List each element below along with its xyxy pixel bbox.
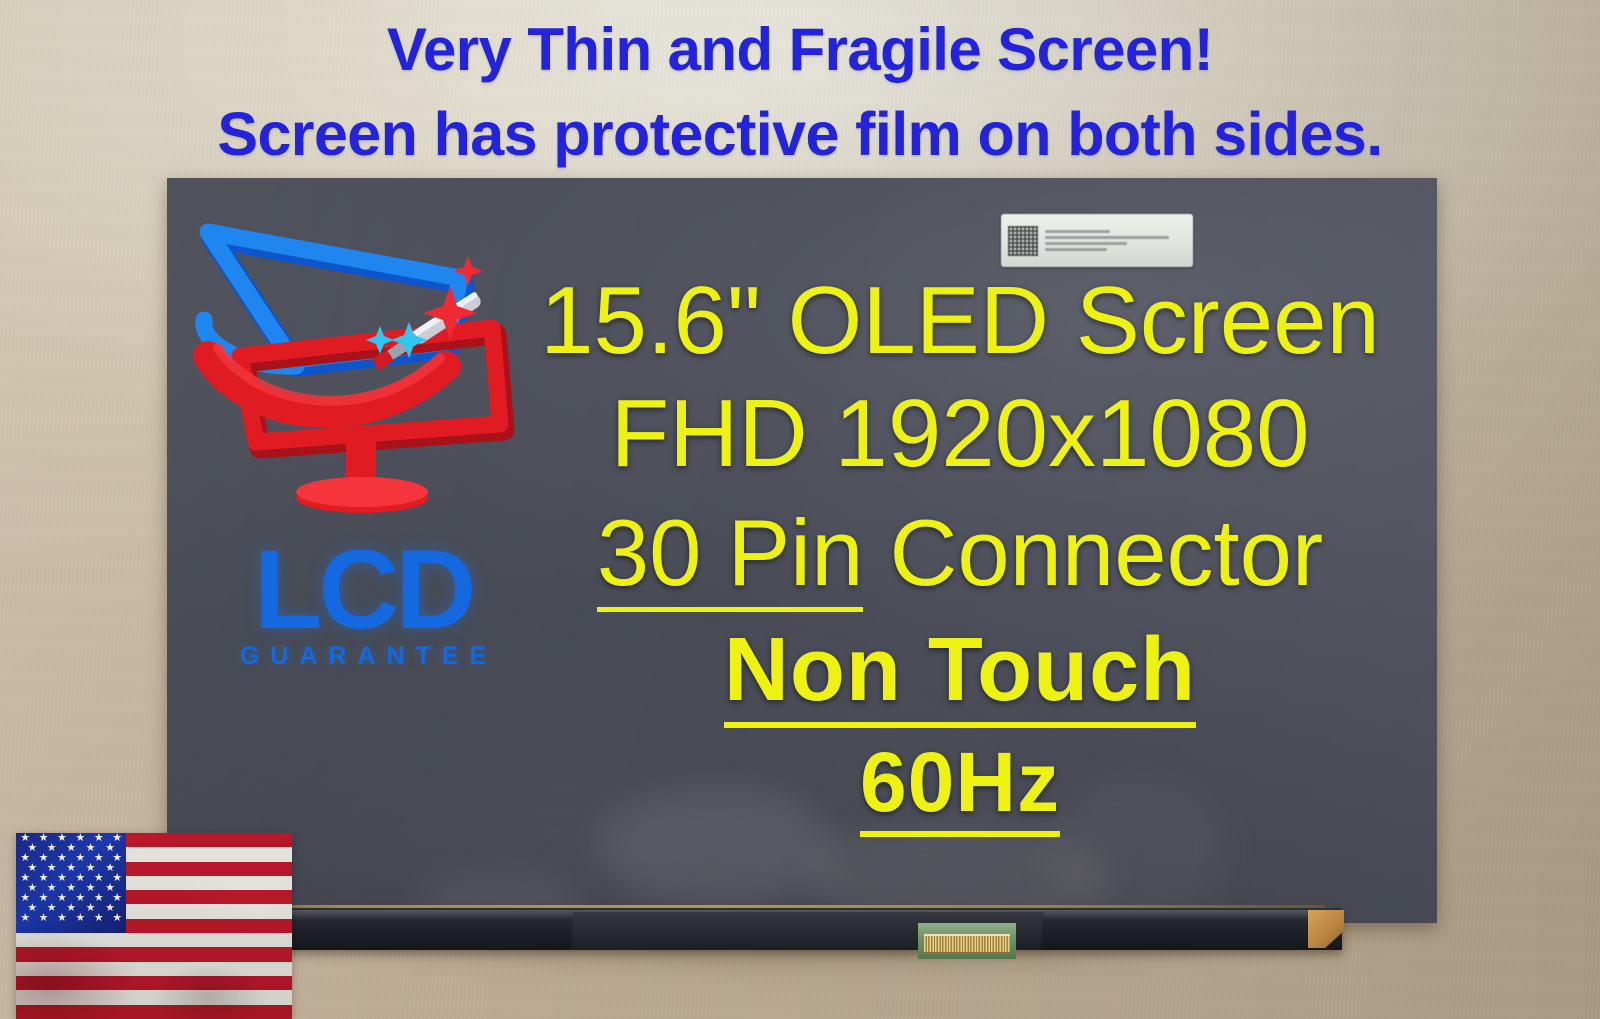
datamatrix-code-icon [1008, 226, 1038, 256]
spec-refresh-rate: 60Hz [520, 728, 1400, 836]
label-text-lines [1045, 230, 1186, 251]
label-line-2 [1045, 236, 1169, 239]
product-barcode-label [1001, 214, 1193, 267]
specifications-block: 15.6" OLED Screen FHD 1920x1080 30 Pin C… [520, 268, 1400, 836]
logo-wordmark: LCD [178, 538, 548, 642]
product-listing-image: Very Thin and Fragile Screen! Screen has… [0, 0, 1600, 1019]
spec-touch: Non Touch [520, 612, 1400, 728]
monitor-screwdriver-logo-icon [178, 216, 548, 546]
panel-bottom-bezel [172, 908, 1342, 950]
header-line-2: Screen has protective film on both sides… [217, 92, 1382, 176]
spec-size-and-type: 15.6" OLED Screen [520, 268, 1400, 374]
spec-connector-word: Connector [863, 500, 1323, 605]
thirty-pin-connector-icon [924, 934, 1010, 954]
us-flag-badge: ★★★★★★ ★★★★★ ★★★★★★ ★★★★★ ★★★★★★ ★★★★★ ★… [16, 833, 292, 1019]
spec-touch-text: Non Touch [724, 620, 1196, 728]
header-line-1: Very Thin and Fragile Screen! [387, 8, 1213, 92]
spec-refresh-rate-text: 60Hz [860, 735, 1060, 837]
label-line-3 [1045, 242, 1127, 245]
header-banner: Very Thin and Fragile Screen! Screen has… [0, 0, 1600, 178]
lcd-guarantee-logo: LCD GUARANTEE [178, 216, 548, 666]
flag-weathering-texture [16, 833, 292, 1019]
spec-connector: 30 Pin Connector [520, 494, 1400, 612]
spec-connector-pins: 30 Pin [597, 500, 864, 612]
label-line-4 [1045, 248, 1107, 251]
label-line-1 [1045, 230, 1110, 233]
logo-tagline: GUARANTEE [178, 642, 548, 670]
spec-resolution: FHD 1920x1080 [520, 374, 1400, 494]
connector-pcb [918, 923, 1016, 959]
